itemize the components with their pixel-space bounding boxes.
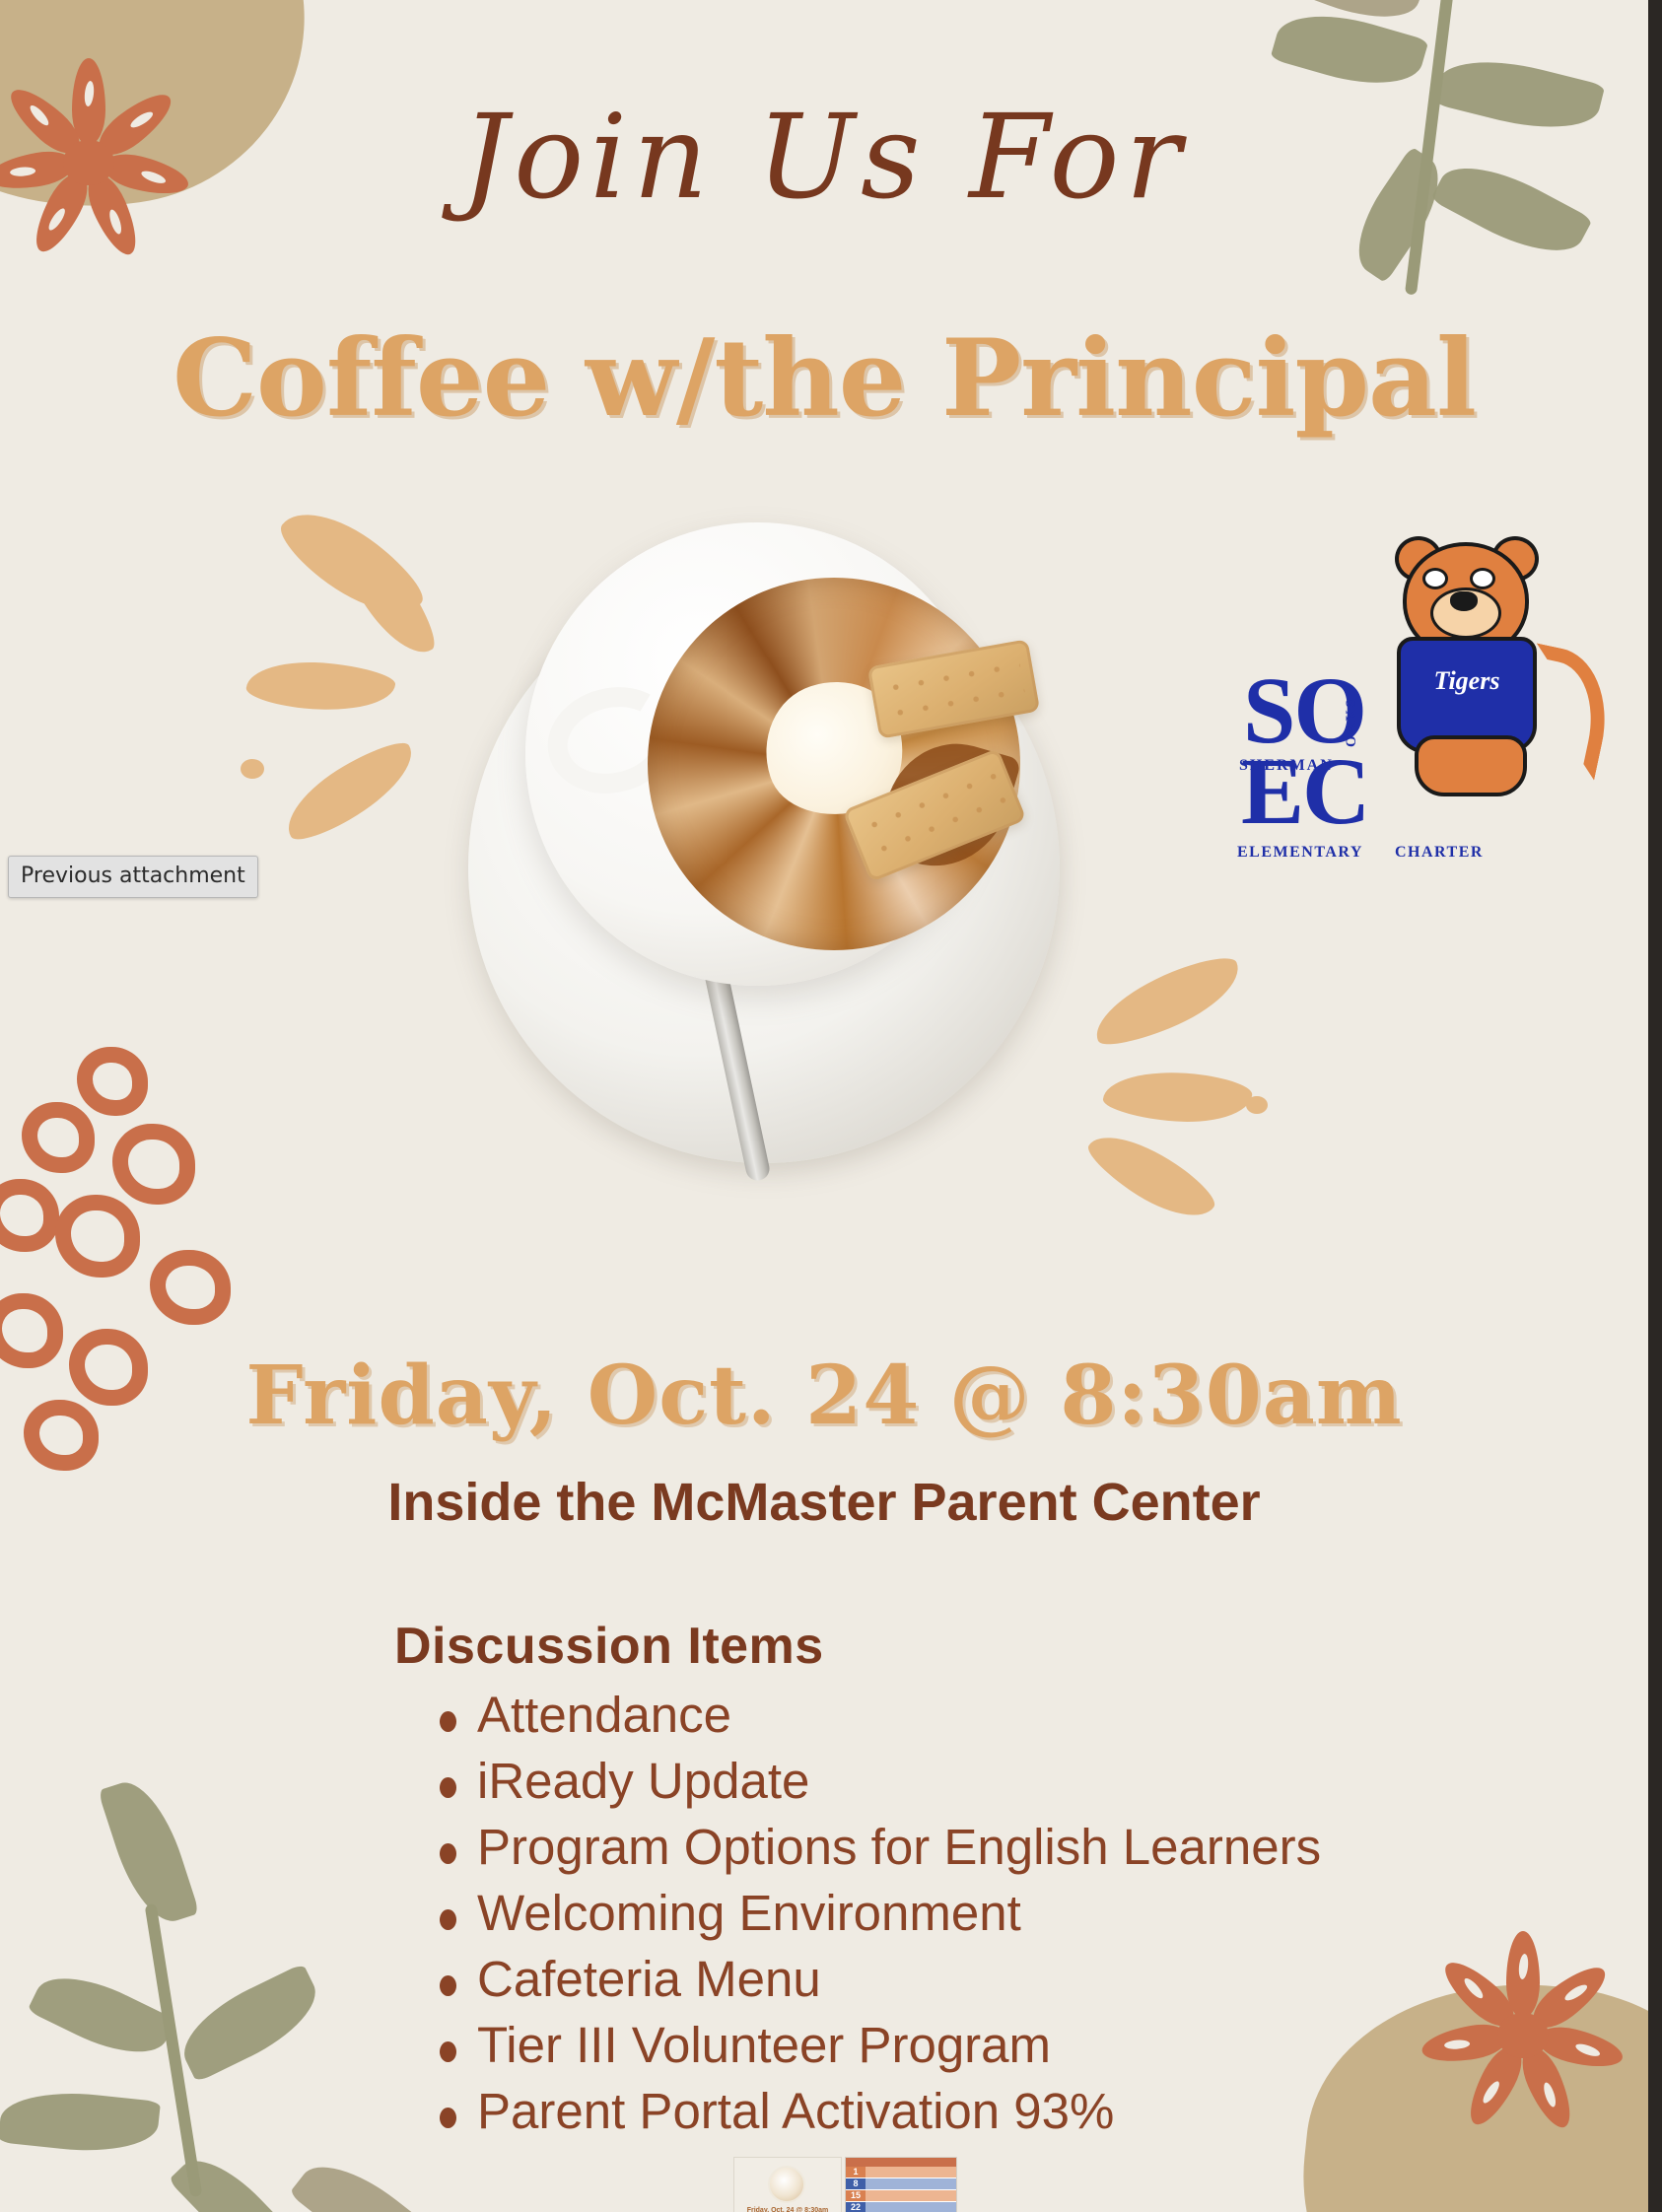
calendar-row: 22	[846, 2202, 956, 2212]
splash-decor	[274, 732, 427, 849]
splash-dot	[388, 589, 406, 604]
calendar-day: 22	[846, 2202, 866, 2212]
list-item: Program Options for English Learners	[440, 1822, 1577, 1872]
tiger-legs	[1415, 735, 1527, 796]
page-title: Coffee w/the Principal	[0, 325, 1648, 432]
calendar-cell	[866, 2202, 956, 2212]
splash-dot	[241, 759, 264, 779]
thumbnail-flyer[interactable]: Friday, Oct. 24 @ 8:30am Inside the McMa…	[733, 2157, 842, 2212]
tiger-eye	[1422, 568, 1448, 589]
biscuit-dots	[881, 653, 1027, 726]
list-item: iReady Update	[440, 1756, 1577, 1806]
leaf	[0, 2085, 161, 2158]
thumbnail-caption: Friday, Oct. 24 @ 8:30am	[734, 2207, 841, 2212]
logo-word-sherman: SHERMAN	[1239, 757, 1334, 775]
flyer-poster: Join Us For Coffee w/the Principal	[0, 0, 1648, 2212]
ring-decor	[77, 1047, 148, 1116]
calendar-cell	[866, 2190, 956, 2201]
calendar-row: 15	[846, 2190, 956, 2201]
leaf	[98, 1772, 199, 1931]
attachment-filmstrip[interactable]: Friday, Oct. 24 @ 8:30am Inside the McMa…	[733, 2157, 957, 2212]
discussion-items-section: Discussion Items Attendance iReady Updat…	[394, 1617, 1577, 2152]
leaf	[170, 1963, 329, 2082]
attachment-viewer: Join Us For Coffee w/the Principal	[0, 0, 1662, 2212]
logo-word-charter: CHARTER	[1395, 844, 1484, 862]
ring-decor	[55, 1195, 140, 1278]
tiger-jersey-text: Tigers	[1401, 666, 1533, 696]
ring-decor	[22, 1102, 95, 1173]
calendar-cell	[866, 2178, 956, 2189]
discussion-items-title: Discussion Items	[394, 1617, 1577, 1676]
calendar-day: 1	[846, 2167, 866, 2177]
calendar-row: 8	[846, 2178, 956, 2189]
logo-word-elementary: ELEMENTARY	[1237, 844, 1363, 862]
calendar-header	[846, 2158, 956, 2167]
list-item: Welcoming Environment	[440, 1888, 1577, 1938]
ring-decor	[150, 1250, 231, 1325]
logo-word-oaks: OAKS	[1344, 697, 1360, 747]
list-item: Parent Portal Activation 93%	[440, 2086, 1577, 2136]
list-item: Cafeteria Menu	[440, 1954, 1577, 2004]
list-item: Attendance	[440, 1690, 1577, 1740]
leaf	[289, 2146, 443, 2212]
splash-decor	[1101, 1065, 1253, 1129]
tiger-eye	[1470, 568, 1495, 589]
splash-decor	[1081, 1118, 1222, 1234]
splash-decor	[1084, 948, 1250, 1055]
ring-decor	[0, 1179, 59, 1252]
event-date: Friday, Oct. 24 @ 8:30am	[0, 1355, 1648, 1436]
splash-dot	[1246, 1096, 1268, 1114]
thumbnail-coffee-icon	[768, 2166, 805, 2203]
calendar-day: 8	[846, 2178, 866, 2189]
calendar-cell	[866, 2167, 956, 2177]
calendar-day: 15	[846, 2190, 866, 2201]
calendar-row: 1	[846, 2167, 956, 2177]
previous-attachment-tooltip: Previous attachment	[8, 856, 258, 898]
thumbnail-calendar[interactable]: 1 8 15 22	[845, 2157, 957, 2212]
soec-logo: Tigers SO EC SHERMAN OAKS ELEMENTARY CHA…	[1237, 542, 1572, 867]
viewer-right-gutter	[1648, 0, 1662, 2212]
event-venue: Inside the McMaster Parent Center	[0, 1474, 1648, 1532]
ring-decor	[112, 1124, 195, 1205]
leaf	[27, 1960, 175, 2072]
eyebrow-text: Join Us For	[0, 99, 1648, 215]
tiger-nose	[1450, 591, 1478, 611]
coffee-photo	[449, 513, 1079, 1163]
soec-letters: SO EC SHERMAN OAKS ELEMENTARY CHARTER	[1237, 670, 1410, 858]
splash-decor	[244, 655, 396, 717]
discussion-items-list: Attendance iReady Update Program Options…	[394, 1690, 1577, 2136]
coffee-cup	[525, 522, 989, 986]
leaf	[1270, 0, 1428, 100]
list-item: Tier III Volunteer Program	[440, 2020, 1577, 2070]
